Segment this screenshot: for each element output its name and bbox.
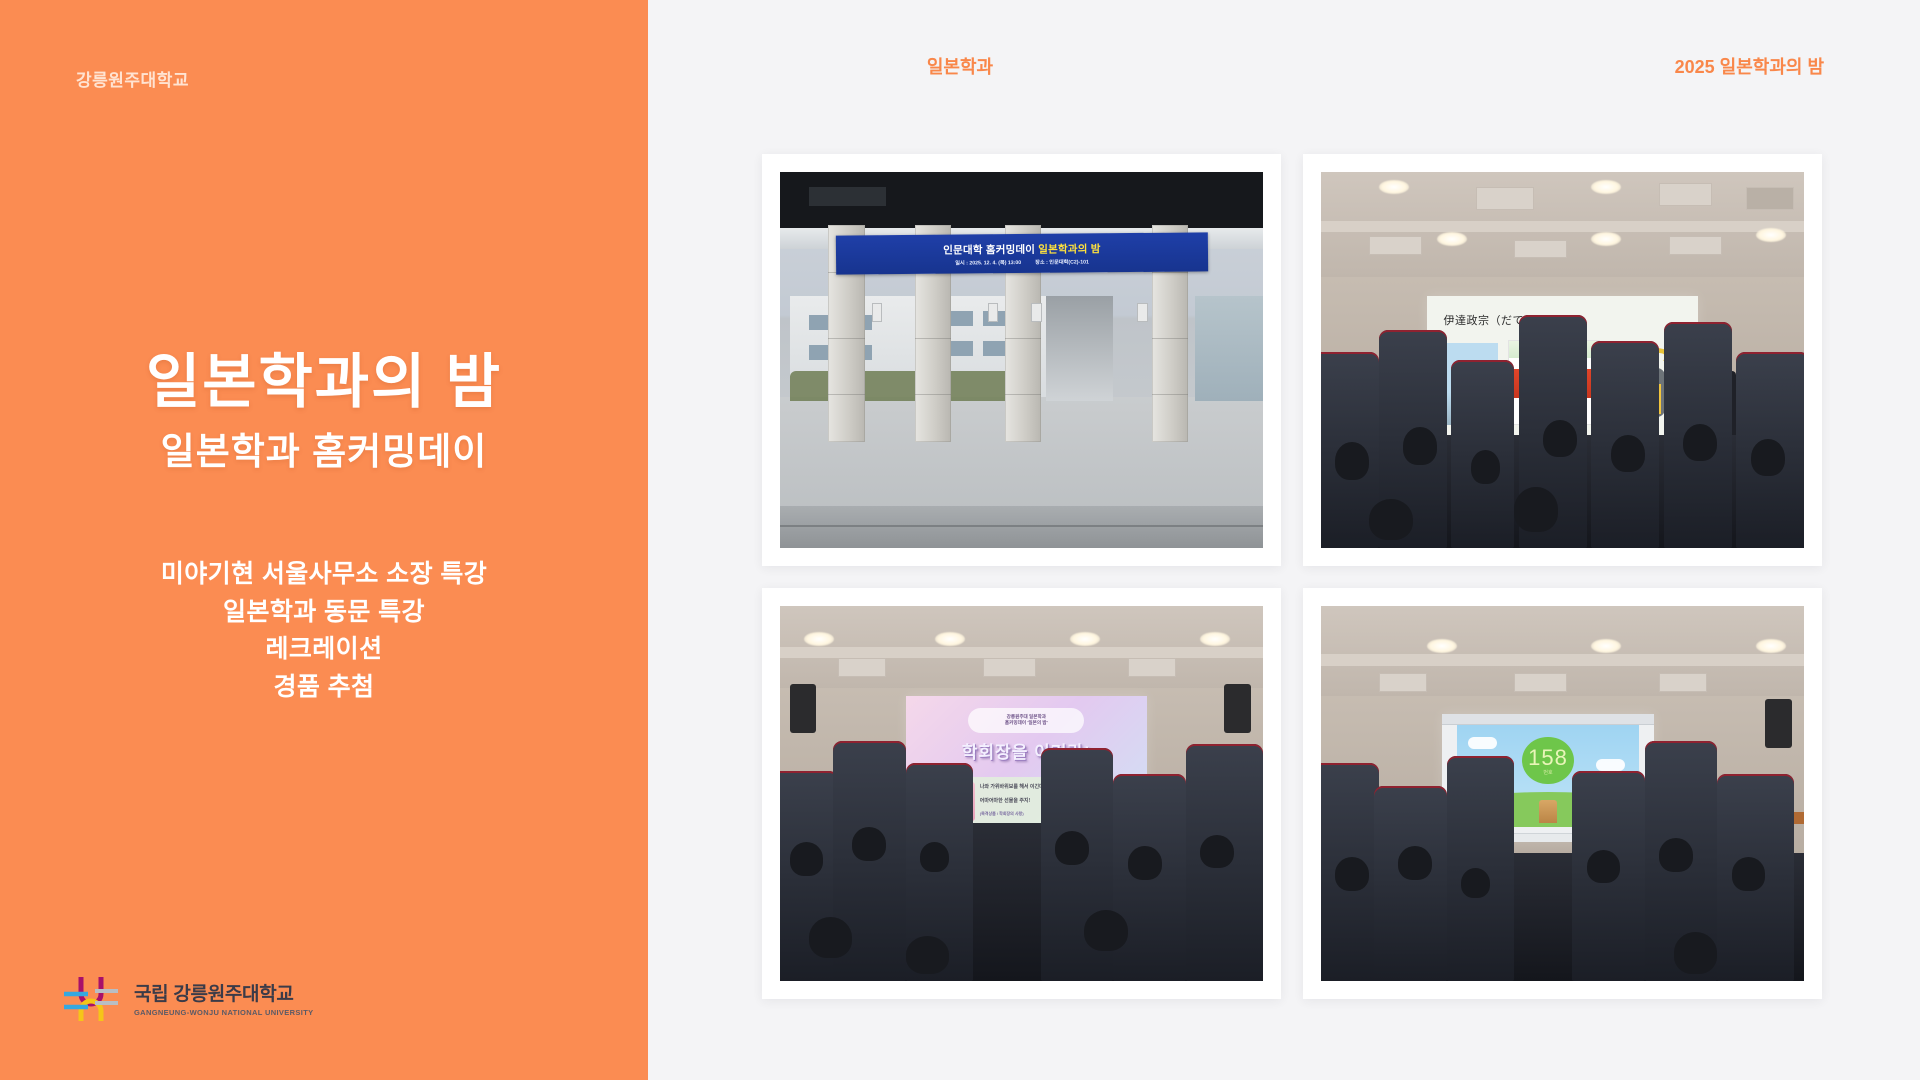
event-banner: 인문대학 홈커밍데이 일본학과의 밤 일시 : 2025. 12. 4. (목)…: [835, 232, 1207, 275]
photo-lecture-date-masamune: 伊達政宗（だてまさむね）: [1321, 172, 1804, 548]
program-list: 미야기현 서울사무소 소장 특강 일본학과 동문 특강 레크레이션 경품 추첨: [0, 556, 648, 706]
university-logo: 국립 강릉원주대학교 GANGNEUNG-WONJU NATIONAL UNIV…: [62, 967, 313, 1029]
slide-badge-line-2: 홈커밍데이 '일본의 밤': [1005, 720, 1048, 727]
logo-korean-name: 국립 강릉원주대학교: [134, 979, 313, 1006]
slide-badge: 강릉원주대 일본학과 홈커밍데이 '일본의 밤': [968, 708, 1084, 734]
slide-body-line-3: (목격상품 / 학회장의 사랑): [980, 811, 1024, 818]
banner-title-row: 인문대학 홈커밍데이 일본학과의 밤: [943, 241, 1100, 257]
banner-title-accent: 일본학과의 밤: [1038, 243, 1100, 256]
photo-prize-draw: 158 번호 다시: [1321, 606, 1804, 982]
random-number-ball: 158 번호: [1522, 737, 1573, 784]
slide-body-line-2: 어마어마한 선물을 주지!: [980, 797, 1030, 806]
program-item-4: 경품 추첨: [0, 669, 648, 707]
photo-grid: 인문대학 홈커밍데이 일본학과의 밤 일시 : 2025. 12. 4. (목)…: [762, 154, 1822, 999]
photo-recreation: 강릉원주대 일본학과 홈커밍데이 '일본의 밤' 학회장을 이겨라! 나와 가위…: [780, 606, 1263, 982]
drawn-number-caption: 번호: [1543, 769, 1552, 776]
program-item-1: 미야기현 서울사무소 소장 특강: [0, 556, 648, 594]
page-subtitle: 일본학과 홈커밍데이: [0, 421, 648, 475]
banner-title-main: 인문대학 홈커밍데이: [943, 244, 1035, 257]
slide-body-line-1: 나와 가위바위보를 해서 이긴다면: [980, 783, 1049, 792]
hero-title-block: 일본학과의 밤 일본학과 홈커밍데이: [0, 352, 648, 475]
program-item-2: 일본학과 동문 특강: [0, 594, 648, 632]
university-emblem-icon: [62, 967, 120, 1029]
photo-card-recreation[interactable]: 강릉원주대 일본학과 홈커밍데이 '일본의 밤' 학회장을 이겨라! 나와 가위…: [762, 588, 1281, 1000]
drawn-number: 158: [1528, 745, 1568, 771]
banner-place: 장소 : 인문대학(C2)-101: [1035, 258, 1089, 265]
university-brand-label: 강릉원주대학교: [76, 66, 189, 91]
department-label: 일본학과: [927, 53, 993, 79]
banner-date: 일시 : 2025. 12. 4. (목) 13:00: [955, 259, 1021, 267]
photo-card-prize-draw[interactable]: 158 번호 다시: [1303, 588, 1822, 1000]
photo-card-entrance[interactable]: 인문대학 홈커밍데이 일본학과의 밤 일시 : 2025. 12. 4. (목)…: [762, 154, 1281, 566]
photo-entrance-banner: 인문대학 홈커밍데이 일본학과의 밤 일시 : 2025. 12. 4. (목)…: [780, 172, 1263, 548]
page-title: 일본학과의 밤: [0, 352, 648, 413]
event-label: 2025 일본학과의 밤: [1675, 53, 1824, 79]
logo-english-name: GANGNEUNG-WONJU NATIONAL UNIVERSITY: [134, 1008, 313, 1017]
program-item-3: 레크레이션: [0, 631, 648, 669]
logo-text-block: 국립 강릉원주대학교 GANGNEUNG-WONJU NATIONAL UNIV…: [134, 979, 313, 1017]
photo-card-lecture[interactable]: 伊達政宗（だてまさむね）: [1303, 154, 1822, 566]
left-orange-panel: 강릉원주대학교 일본학과의 밤 일본학과 홈커밍데이 미야기현 서울사무소 소장…: [0, 0, 648, 1080]
banner-detail-row: 일시 : 2025. 12. 4. (목) 13:00 장소 : 인문대학(C2…: [955, 258, 1089, 266]
